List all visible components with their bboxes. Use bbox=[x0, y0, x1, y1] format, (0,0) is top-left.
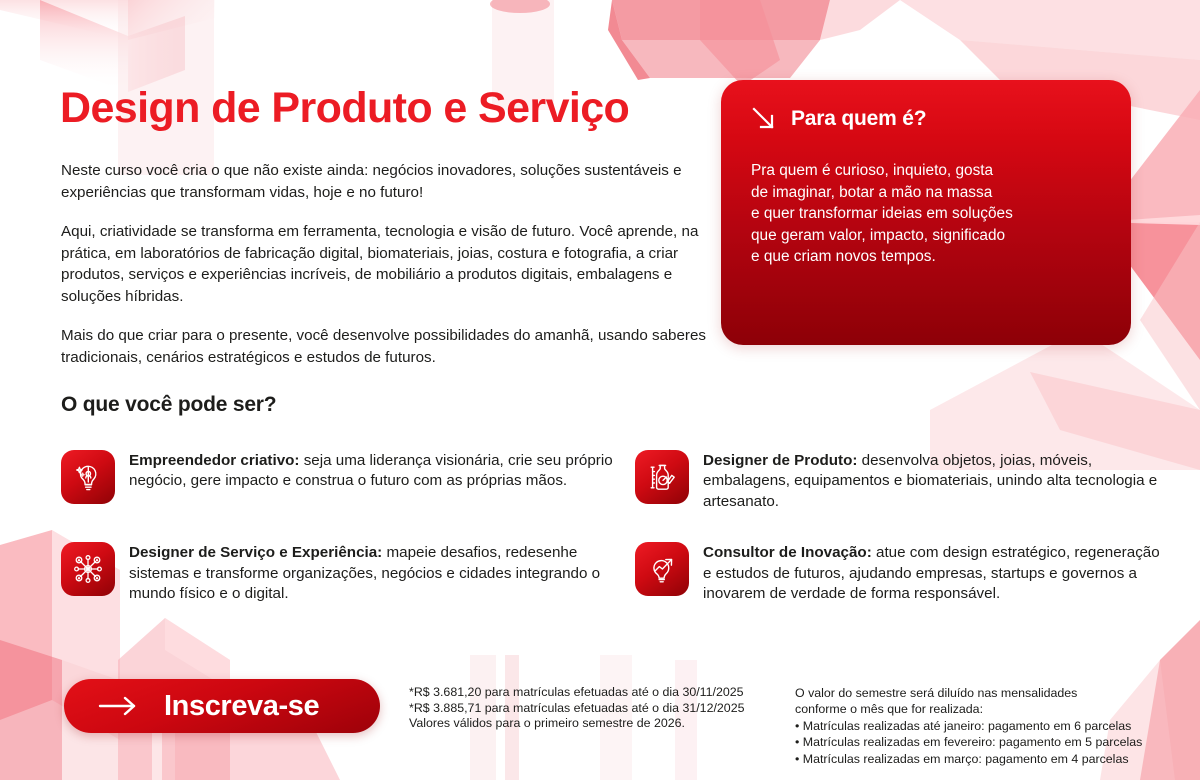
audience-line-3: e quer transformar ideias em soluções bbox=[751, 203, 1101, 225]
career-text-3: Designer de Serviço e Experiência: mapei… bbox=[129, 542, 635, 604]
careers-heading: O que você pode ser? bbox=[61, 393, 276, 417]
price-note: *R$ 3.681,20 para matrículas efetuadas a… bbox=[409, 685, 789, 732]
page-title: Design de Produto e Serviço bbox=[60, 84, 629, 133]
audience-line-1: Pra quem é curioso, inquieto, gosta bbox=[751, 160, 1101, 182]
career-item-consultor-de-inovacao: Consultor de Inovação: atue com design e… bbox=[635, 542, 1171, 604]
career-text-2: Designer de Produto: desenvolva objetos,… bbox=[703, 450, 1171, 512]
career-text-4: Consultor de Inovação: atue com design e… bbox=[703, 542, 1171, 604]
network-hub-icon bbox=[61, 542, 115, 596]
career-role-1: Empreendedor criativo: bbox=[129, 452, 299, 469]
enroll-button[interactable]: Inscreva-se bbox=[64, 679, 380, 733]
terms-note-line-1: O valor do semestre será diluído nas men… bbox=[795, 685, 1185, 701]
audience-line-4: que geram valor, impacto, significado bbox=[751, 225, 1101, 247]
intro-paragraphs: Neste curso você cria o que não existe a… bbox=[61, 160, 721, 368]
career-item-empreendedor-criativo: Empreendedor criativo: seja uma lideranç… bbox=[61, 450, 635, 512]
audience-line-5: e que criam novos tempos. bbox=[751, 246, 1101, 268]
career-item-designer-de-servico: Designer de Serviço e Experiência: mapei… bbox=[61, 542, 635, 604]
price-note-line-1: *R$ 3.681,20 para matrículas efetuadas a… bbox=[409, 685, 789, 701]
career-role-3: Designer de Serviço e Experiência: bbox=[129, 544, 382, 561]
audience-card-title: Para quem é? bbox=[791, 107, 926, 131]
bottle-ruler-pen-icon bbox=[635, 450, 689, 504]
price-note-line-2: *R$ 3.885,71 para matrículas efetuadas a… bbox=[409, 701, 789, 717]
intro-paragraph-2: Aqui, criatividade se transforma em ferr… bbox=[61, 221, 721, 307]
terms-note-line-4: • Matrículas realizadas em fevereiro: pa… bbox=[795, 734, 1185, 750]
audience-card: Para quem é? Pra quem é curioso, inquiet… bbox=[721, 80, 1131, 345]
career-item-designer-de-produto: Designer de Produto: desenvolva objetos,… bbox=[635, 450, 1171, 512]
careers-grid: Empreendedor criativo: seja uma lideranç… bbox=[61, 450, 1171, 604]
lightbulb-brain-icon bbox=[61, 450, 115, 504]
audience-card-body: Pra quem é curioso, inquieto, gosta de i… bbox=[751, 160, 1101, 268]
enroll-button-label: Inscreva-se bbox=[164, 690, 319, 723]
intro-paragraph-3: Mais do que criar para o presente, você … bbox=[61, 325, 721, 368]
arrow-right-icon bbox=[98, 695, 138, 717]
price-note-line-3: Valores válidos para o primeiro semestre… bbox=[409, 716, 789, 732]
career-role-4: Consultor de Inovação: bbox=[703, 544, 872, 561]
course-landing-page: Design de Produto e Serviço Neste curso … bbox=[0, 0, 1200, 780]
terms-note: O valor do semestre será diluído nas men… bbox=[795, 685, 1185, 767]
career-role-2: Designer de Produto: bbox=[703, 452, 857, 469]
lightbulb-growth-arrow-icon bbox=[635, 542, 689, 596]
audience-card-header: Para quem é? bbox=[751, 106, 1101, 132]
arrow-down-right-icon bbox=[751, 106, 777, 132]
audience-line-2: de imaginar, botar a mão na massa bbox=[751, 182, 1101, 204]
terms-note-line-5: • Matrículas realizadas em março: pagame… bbox=[795, 751, 1185, 767]
career-text-1: Empreendedor criativo: seja uma lideranç… bbox=[129, 450, 635, 492]
terms-note-line-3: • Matrículas realizadas até janeiro: pag… bbox=[795, 718, 1185, 734]
terms-note-line-2: conforme o mês que for realizada: bbox=[795, 701, 1185, 717]
intro-paragraph-1: Neste curso você cria o que não existe a… bbox=[61, 160, 721, 203]
